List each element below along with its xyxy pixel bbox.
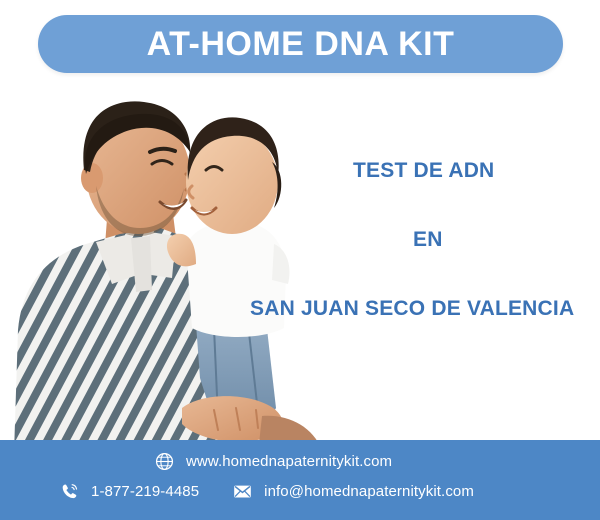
envelope-icon [233,482,252,501]
poster-root: AT-HOME DNA KIT [0,0,600,520]
header-pill: AT-HOME DNA KIT [38,15,563,73]
footer-email[interactable]: info@homednapaternitykit.com [233,482,474,501]
footer-phone-text: 1-877-219-4485 [91,483,199,500]
page-title: AT-HOME DNA KIT [147,25,455,64]
globe-icon [155,452,174,471]
footer-bar: www.homednapaternitykit.com 1-877-219-44… [0,440,600,520]
footer-website-row: www.homednapaternitykit.com [155,452,392,471]
headline-line-2: EN [413,229,600,250]
footer-phone[interactable]: 1-877-219-4485 [60,482,199,501]
headline-block: TEST DE ADN EN SAN JUAN SECO DE VALENCIA [250,160,600,319]
headline-line-1: TEST DE ADN [353,160,600,181]
footer-website[interactable]: www.homednapaternitykit.com [155,452,392,471]
phone-icon [60,482,79,501]
footer-email-text: info@homednapaternitykit.com [264,483,474,500]
footer-contact-row: 1-877-219-4485 info@homednapaternitykit.… [60,482,474,501]
footer-website-text: www.homednapaternitykit.com [186,453,392,470]
headline-line-3: SAN JUAN SECO DE VALENCIA [250,298,600,319]
